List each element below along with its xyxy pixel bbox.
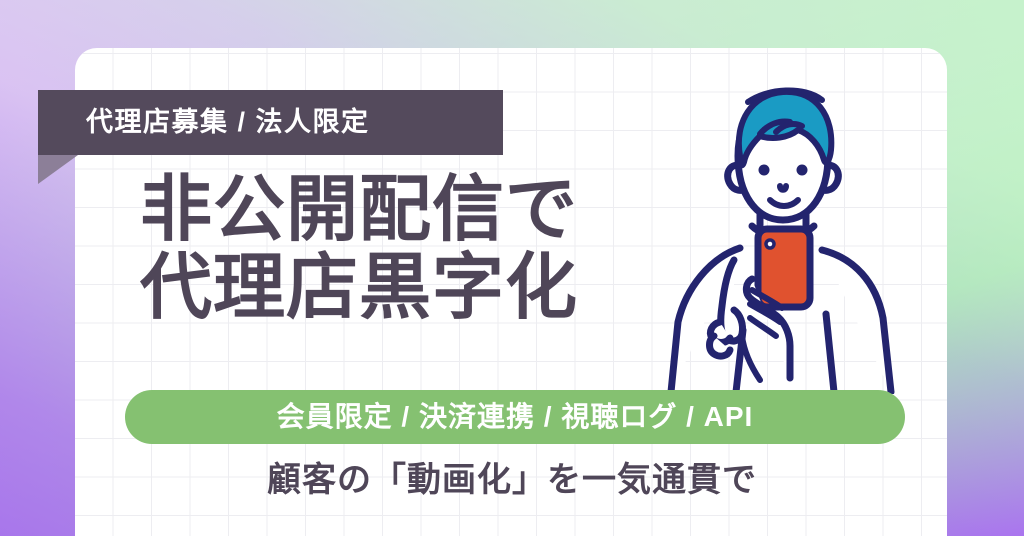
ribbon: 代理店募集 / 法人限定 [38, 90, 503, 155]
headline-line-1: 非公開配信で [140, 172, 578, 250]
headline-line-2: 代理店黒字化 [140, 250, 578, 328]
ribbon-banner: 代理店募集 / 法人限定 [38, 90, 503, 155]
page-title: 非公開配信で 代理店黒字化 [140, 172, 578, 328]
feature-pill: 会員限定 / 決済連携 / 視聴ログ / API [125, 390, 905, 444]
illustration-person-holding-smartphone [648, 74, 948, 394]
ribbon-label: 代理店募集 / 法人限定 [86, 109, 370, 136]
promo-banner: 代理店募集 / 法人限定 非公開配信で 代理店黒字化 会員限定 / 決済連携 /… [0, 0, 1024, 536]
tagline: 顧客の「動画化」を一気通貫で [0, 463, 1024, 497]
feature-pill-label: 会員限定 / 決済連携 / 視聴ログ / API [277, 403, 754, 431]
ribbon-fold-shape [38, 155, 78, 184]
